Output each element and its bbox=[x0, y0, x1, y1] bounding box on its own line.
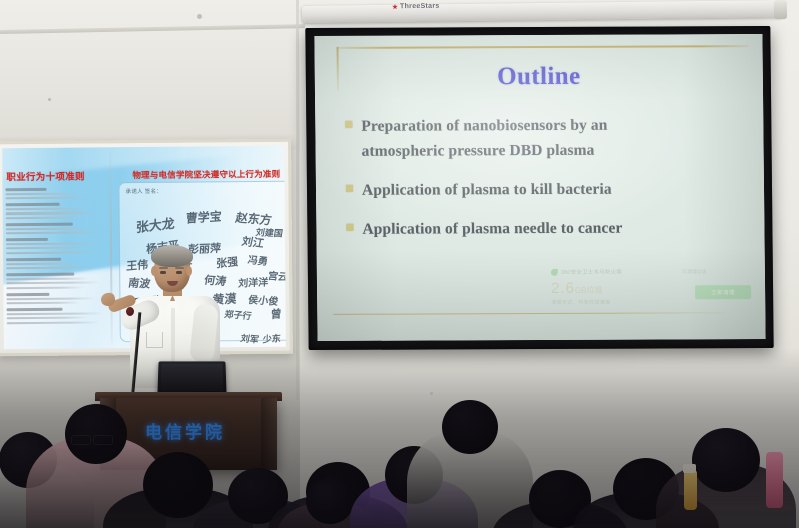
wall-upper-left bbox=[0, 0, 300, 150]
bullet-square-icon bbox=[345, 121, 352, 128]
signature-layer: 张大龙曹学宝赵东方杨志平彭丽萍刘江刘建国王伟陈红张强冯勇南波李明何涛刘洋洋宫云田… bbox=[119, 182, 285, 183]
presenter-brow-left bbox=[159, 267, 168, 269]
banner-rule-heading bbox=[7, 308, 63, 311]
banner-right-title: 物理与电信学院坚决遵守以上行为准则 bbox=[120, 168, 286, 182]
banner-rule-line bbox=[6, 242, 101, 245]
banner-rule-heading bbox=[5, 188, 46, 191]
bullet-text: Application of plasma needle to cancer bbox=[362, 216, 622, 242]
banner-rule-line bbox=[6, 247, 86, 250]
banner-rule-heading bbox=[6, 223, 73, 226]
presenter-hair bbox=[151, 245, 193, 267]
star-icon bbox=[392, 4, 398, 10]
banner-rule-heading bbox=[6, 258, 61, 261]
signature: 刘建国 bbox=[255, 225, 284, 239]
banner-rule-line bbox=[6, 278, 89, 281]
bottle-cap bbox=[683, 464, 696, 473]
audience-glasses-left-head bbox=[65, 404, 127, 464]
audience-center-dark-head bbox=[143, 452, 213, 518]
presenter-eye-right bbox=[176, 271, 182, 274]
bullet-text: Application of plasma to kill bacteria bbox=[362, 177, 612, 203]
signature: 刘洋洋 bbox=[238, 273, 269, 289]
ghost-overlay-header: 360安全卫士木马防火墙 bbox=[551, 267, 751, 276]
laptop[interactable] bbox=[157, 361, 226, 394]
banner-rule-heading bbox=[6, 273, 74, 276]
slide-deco-top-line bbox=[337, 45, 749, 48]
banner-rule-line bbox=[6, 302, 80, 305]
presenter-ear-left bbox=[151, 266, 157, 276]
presenter-brow-right bbox=[175, 267, 184, 269]
ghost-size-number: 2.6 bbox=[551, 280, 575, 297]
banner-rule-line bbox=[6, 262, 81, 265]
banner-rule-line bbox=[6, 251, 97, 254]
ghost-sub-label: 清理可达，可有效加速度 bbox=[551, 298, 751, 306]
wall-mark bbox=[430, 392, 433, 395]
ghost-app-label: 360安全卫士木马防火墙 bbox=[561, 268, 622, 276]
signature: 宫云 bbox=[267, 267, 286, 283]
signature: 冯勇 bbox=[247, 251, 270, 268]
podium-label: 电信学院 bbox=[145, 418, 225, 443]
presenter-shirt-pocket bbox=[146, 332, 163, 348]
list-item: Preparation of nanobiosensors by an atmo… bbox=[345, 112, 742, 164]
signature: 曾 bbox=[270, 305, 281, 322]
projection-screen: Outline Preparation of nanobiosensors by… bbox=[305, 26, 773, 350]
banner-rule-line bbox=[6, 216, 83, 219]
banner-rule-line bbox=[6, 266, 93, 269]
bullet-line: Preparation of nanobiosensors by an bbox=[361, 117, 607, 135]
presenter-ear-right bbox=[186, 266, 192, 276]
banner-rules-text bbox=[5, 185, 108, 339]
wall-mark bbox=[48, 98, 51, 101]
banner-rule-heading bbox=[6, 238, 48, 241]
banner-rule-line bbox=[6, 227, 94, 230]
screen-brand-label: ThreeStars bbox=[400, 3, 440, 10]
podium-side-right bbox=[261, 398, 277, 470]
screen-brand: ThreeStars bbox=[392, 3, 440, 11]
banner-rule-line bbox=[6, 197, 91, 200]
banner-rule-line bbox=[7, 317, 89, 320]
ghost-size-unit: GB垃圾 bbox=[575, 286, 603, 295]
bullet-line: atmospheric pressure DBD plasma bbox=[362, 142, 595, 160]
list-item: Application of plasma to kill bacteria bbox=[346, 176, 742, 203]
microphone-head bbox=[126, 307, 134, 316]
audience-far-right-head bbox=[692, 428, 760, 492]
banner-rule-line bbox=[6, 282, 100, 285]
banner-rule-line bbox=[7, 312, 104, 315]
ghost-corner-label: 可清理垃圾 bbox=[682, 268, 707, 275]
ghost-cleaner-overlay: 360安全卫士木马防火墙 可清理垃圾 2.6GB垃圾 清理可达，可有效加速度 立… bbox=[551, 267, 752, 320]
slide-bullet-list: Preparation of nanobiosensors by an atmo… bbox=[345, 112, 742, 256]
banner-rule-heading bbox=[6, 203, 60, 206]
leaf-icon bbox=[551, 268, 558, 275]
presentation-slide: Outline Preparation of nanobiosensors by… bbox=[314, 34, 765, 341]
signature: 张大龙 bbox=[136, 213, 175, 237]
banner-rule-line bbox=[6, 286, 85, 289]
banner-rule-heading bbox=[6, 293, 49, 296]
projection-surface: Outline Preparation of nanobiosensors by… bbox=[314, 34, 765, 341]
banner-rule-line bbox=[7, 321, 100, 324]
banner-rule-line bbox=[6, 208, 87, 211]
banner-rule-line bbox=[6, 212, 98, 215]
lecture-hall-photo: ThreeStars Outline Preparation of nanobi… bbox=[0, 0, 799, 528]
banner-rule-line bbox=[6, 297, 96, 300]
bullet-square-icon bbox=[346, 185, 353, 192]
wall-mark bbox=[197, 14, 202, 19]
audience-white-shirt-head bbox=[442, 400, 498, 454]
wall-corner-seam bbox=[296, 0, 299, 400]
presenter-eye-left bbox=[160, 271, 166, 274]
audience-bottle-holder-head bbox=[306, 478, 354, 524]
banner-rule-line bbox=[6, 192, 79, 195]
signature: 少东 bbox=[263, 331, 282, 345]
banner-rule-line bbox=[6, 231, 105, 234]
slide-title: Outline bbox=[315, 62, 763, 92]
list-item: Application of plasma needle to cancer bbox=[346, 215, 742, 242]
laptop-screen bbox=[161, 363, 224, 391]
eyeglasses bbox=[93, 435, 113, 445]
banner-left-title: 职业行为十项准则 bbox=[6, 168, 106, 183]
bullet-square-icon bbox=[346, 224, 353, 231]
signature-panel-label: 承诺人 签名： bbox=[125, 187, 162, 195]
signature: 刘军 bbox=[240, 331, 261, 346]
bullet-text: Preparation of nanobiosensors by an atmo… bbox=[361, 113, 608, 164]
roller-end-cap bbox=[774, 0, 787, 19]
signature: 曹学宝 bbox=[185, 207, 222, 226]
drink-bottle bbox=[684, 470, 697, 510]
ghost-clean-button[interactable]: 立即清理 bbox=[695, 285, 751, 299]
eyeglasses bbox=[71, 435, 91, 445]
thermos-flask bbox=[766, 452, 783, 508]
